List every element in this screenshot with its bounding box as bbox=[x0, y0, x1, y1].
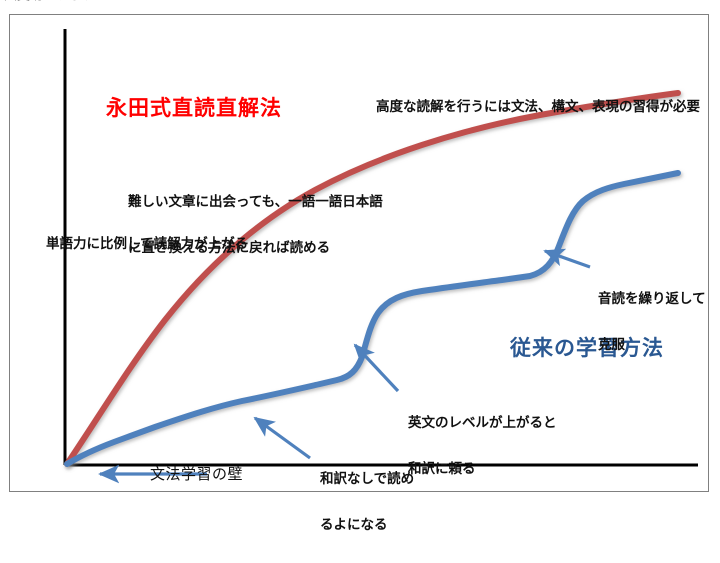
annotation-vocabulary-proportion: 単語力に比例して読解力が上がる bbox=[46, 237, 248, 252]
annotation-difficult-sentence-line1: 難しい文章に出会っても、一語一語日本語 bbox=[128, 195, 383, 210]
annotation-eibun-level-line2: 和訳に頼る bbox=[408, 462, 557, 477]
annotation-ondoku-line2: 克服 bbox=[598, 338, 706, 353]
annotation-arrow-eibun bbox=[355, 345, 398, 391]
annotation-arrow-wayaku bbox=[255, 418, 310, 458]
annotation-difficult-sentence: 難しい文章に出会っても、一語一語日本語 に置き換える方法に戻れば読める bbox=[128, 165, 383, 286]
annotation-wayaku-nashi: 和訳なしで読め るよになる bbox=[320, 442, 414, 563]
annotation-wayaku-nashi-line2: るよになる bbox=[320, 518, 414, 533]
annotation-ondoku: 音読を繰り返して 克服 bbox=[598, 262, 706, 383]
chart-frame: 永田式直読直解法 高度な読解を行うには文法、構文、表現の習得が必要 難しい文章に… bbox=[9, 14, 709, 492]
series-title-nagata: 永田式直読直解法 bbox=[106, 97, 282, 121]
annotation-ondoku-line1: 音読を繰り返して bbox=[598, 292, 706, 307]
annotation-wayaku-nashi-line1: 和訳なしで読め bbox=[320, 472, 414, 487]
clipped-page-heading: 大変助かります bbox=[4, 0, 95, 3]
annotation-grammar-wall: 文法学習の壁 bbox=[150, 466, 243, 483]
annotation-eibun-level-line1: 英文のレベルが上がると bbox=[408, 416, 557, 431]
annotation-eibun-level: 英文のレベルが上がると 和訳に頼る bbox=[408, 386, 557, 507]
annotation-advanced-reading: 高度な読解を行うには文法、構文、表現の習得が必要 bbox=[376, 100, 700, 115]
